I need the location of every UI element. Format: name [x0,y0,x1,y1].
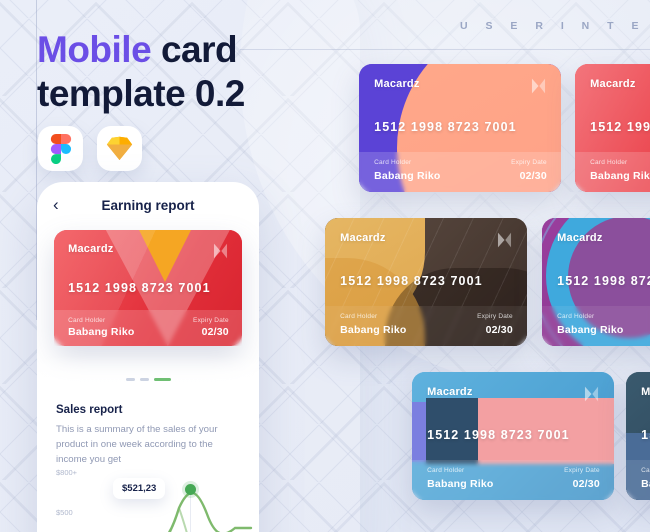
carousel-pagination[interactable] [37,378,259,381]
card-holder-label: Card Holder [340,313,377,320]
card-slate[interactable]: Macardz 1512 1998 8723 7001 Card Holder … [626,372,650,500]
card-number: 1512 1998 8723 7001 [68,281,229,295]
card-expiry-value: 02/30 [520,170,547,182]
card-holder-value: Babang Riko [641,478,650,490]
sales-chart: $800+ $500 $100 $521,23 [37,464,259,532]
figma-icon[interactable] [38,126,83,171]
app-icon-row [38,126,142,171]
card-footer: Card Holder Babang Riko Expiry Date 02/3… [626,460,650,500]
card-brand: Macardz [590,78,635,90]
card-holder-value: Babang Riko [374,170,440,182]
card-footer: Card Holder Babang Riko Expiry Date 02/3… [542,306,650,346]
chart-tooltip: $521,23 [113,478,165,499]
figma-glyph [50,134,72,164]
pagination-dot-active[interactable] [154,378,171,381]
phone-header: ‹ Earning report [37,182,259,226]
card-brand: Macardz [374,78,419,90]
card-holder-value: Babang Riko [427,478,493,490]
card-holder-label: Card Holder [427,467,464,474]
sales-report-title: Sales report [56,404,122,416]
card-holder-value: Babang Riko [68,326,134,338]
card-number: 1512 1998 8723 7001 [590,120,650,134]
card-holder-label: Card Holder [68,317,105,324]
card-red[interactable]: Macardz 1512 1998 8723 7001 Card Holder … [575,64,650,192]
card-number: 1512 1998 8723 7001 [641,428,650,442]
card-brown-gold[interactable]: Macardz 1512 1998 8723 7001 Card Holder … [325,218,527,346]
card-expiry-label: Expiry Date [193,317,229,324]
card-brand: Macardz [641,386,650,398]
card-purple-cyan[interactable]: Macardz 1512 1998 8723 7001 Card Holder … [542,218,650,346]
card-brand: Macardz [68,243,113,255]
card-logo-icon [496,231,513,249]
card-holder-value: Babang Riko [340,324,406,336]
card-expiry-value: 02/30 [573,478,600,490]
card-logo-icon [583,385,600,403]
card-expiry-value: 02/30 [486,324,513,336]
card-holder-label: Card Holder [557,313,594,320]
card-footer: Card Holder Babang Riko Expiry Date 02/3… [325,306,527,346]
kicker-text: U S E R I N T E [460,20,646,32]
card-red-triangles[interactable]: Macardz 1512 1998 8723 7001 Card Holder … [54,230,242,346]
card-brand: Macardz [340,232,385,244]
card-expiry-label: Expiry Date [511,159,547,166]
card-holder-label: Card Holder [590,159,627,166]
sketch-icon[interactable] [97,126,142,171]
card-blue-pink[interactable]: Macardz 1512 1998 8723 7001 Card Holder … [412,372,614,500]
card-number: 1512 1998 8723 7001 [374,120,547,134]
page-title-accent: Mobile [37,29,151,70]
card-holder-value: Babang Riko [590,170,650,182]
card-footer: Card Holder Babang Riko Expiry Date 02/3… [359,152,561,192]
card-holder-label: Card Holder [641,467,650,474]
page-title: Mobile card template 0.2 [37,28,337,115]
card-expiry-label: Expiry Date [564,467,600,474]
card-expiry-value: 02/30 [202,326,229,338]
card-footer: Card Holder Babang Riko Expiry Date 02/3… [575,152,650,192]
phone-mockup: ‹ Earning report Macardz 1512 1998 8723 … [37,182,259,532]
card-logo-icon [212,242,229,260]
card-purple-peach[interactable]: Macardz 1512 1998 8723 7001 Card Holder … [359,64,561,192]
page-title-rest: card [151,29,237,70]
card-number: 1512 1998 8723 7001 [557,274,650,288]
card-number: 1512 1998 8723 7001 [340,274,513,288]
card-footer: Card Holder Babang Riko Expiry Date 02/3… [412,460,614,500]
sales-report-description: This is a summary of the sales of your p… [56,423,241,468]
card-holder-value: Babang Riko [557,324,623,336]
card-brand: Macardz [427,386,472,398]
canvas: Mobile card template 0.2 U S E R I N T E [0,0,650,532]
card-holder-label: Card Holder [374,159,411,166]
card-brand: Macardz [557,232,602,244]
card-expiry-label: Expiry Date [477,313,513,320]
pagination-dot[interactable] [140,378,149,381]
card-footer: Card Holder Babang Riko Expiry Date 02/3… [54,310,242,346]
content-fade [37,356,259,386]
card-number: 1512 1998 8723 7001 [427,428,600,442]
screen-title: Earning report [37,198,259,213]
chart-data-point[interactable] [185,484,196,495]
page-title-line2: template 0.2 [37,73,245,114]
pagination-dot[interactable] [126,378,135,381]
sketch-glyph [106,136,133,161]
card-logo-icon [530,77,547,95]
